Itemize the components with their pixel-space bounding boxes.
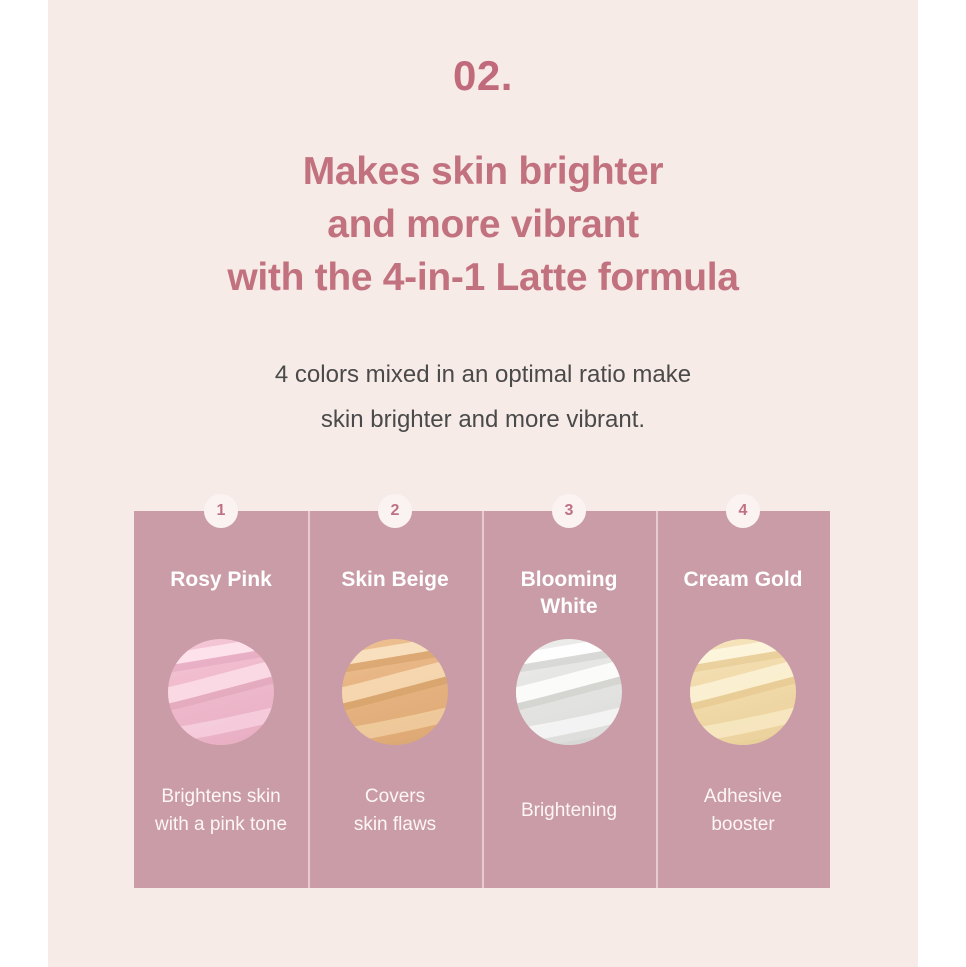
shade-badge-3: 3 bbox=[552, 494, 586, 528]
shade-name-rosy-pink: Rosy Pink bbox=[134, 566, 308, 593]
step-number: 02. bbox=[48, 52, 918, 100]
shade-name-line: Blooming bbox=[521, 568, 618, 591]
shade-name-line: Skin Beige bbox=[341, 568, 448, 591]
shade-badge-4: 4 bbox=[726, 494, 760, 528]
section-headline: Makes skin brighter and more vibrant wit… bbox=[48, 145, 918, 304]
shade-badge-1: 1 bbox=[204, 494, 238, 528]
rosy-pink-texture-icon bbox=[168, 639, 274, 745]
shade-name-line: White bbox=[540, 595, 597, 618]
shade-column-blooming-white: 3 Blooming White bbox=[482, 511, 656, 888]
shade-name-line: Cream Gold bbox=[683, 568, 802, 591]
caption-line: with a pink tone bbox=[134, 811, 308, 839]
shade-column-rosy-pink: 1 Rosy Pink bbox=[134, 511, 308, 888]
column-divider-3 bbox=[656, 511, 658, 888]
skin-beige-texture-icon bbox=[342, 639, 448, 745]
cream-gold-texture-icon bbox=[690, 639, 796, 745]
caption-line: Covers bbox=[308, 783, 482, 811]
caption-line: skin flaws bbox=[308, 811, 482, 839]
caption-line: Brightens skin bbox=[134, 783, 308, 811]
shade-caption-rosy-pink: Brightens skin with a pink tone bbox=[134, 783, 308, 839]
shade-panel: 1 Rosy Pink bbox=[134, 511, 830, 888]
shade-caption-skin-beige: Covers skin flaws bbox=[308, 783, 482, 839]
cream-gold-cream-swatch bbox=[690, 639, 796, 745]
column-divider-1 bbox=[308, 511, 310, 888]
blooming-white-texture-icon bbox=[516, 639, 622, 745]
column-divider-2 bbox=[482, 511, 484, 888]
shade-caption-cream-gold: Adhesive booster bbox=[656, 783, 830, 839]
rosy-pink-cream-swatch bbox=[168, 639, 274, 745]
shade-column-cream-gold: 4 Cream Gold bbox=[656, 511, 830, 888]
shade-caption-blooming-white: Brightening bbox=[482, 797, 656, 825]
shade-name-skin-beige: Skin Beige bbox=[308, 566, 482, 593]
subcopy-line-2: skin brighter and more vibrant. bbox=[48, 397, 918, 442]
shade-column-skin-beige: 2 Skin Beige bbox=[308, 511, 482, 888]
shade-name-line: Rosy Pink bbox=[170, 568, 272, 591]
headline-line-1: Makes skin brighter bbox=[48, 145, 918, 198]
shade-badge-2: 2 bbox=[378, 494, 412, 528]
shade-name-blooming-white: Blooming White bbox=[482, 566, 656, 620]
section-subcopy: 4 colors mixed in an optimal ratio make … bbox=[48, 352, 918, 442]
caption-line: booster bbox=[656, 811, 830, 839]
skin-beige-cream-swatch bbox=[342, 639, 448, 745]
headline-line-2: and more vibrant bbox=[48, 198, 918, 251]
subcopy-line-1: 4 colors mixed in an optimal ratio make bbox=[48, 352, 918, 397]
infographic-canvas: 02. Makes skin brighter and more vibrant… bbox=[48, 0, 918, 967]
caption-line: Adhesive bbox=[656, 783, 830, 811]
caption-line: Brightening bbox=[482, 797, 656, 825]
shade-name-cream-gold: Cream Gold bbox=[656, 566, 830, 593]
blooming-white-cream-swatch bbox=[516, 639, 622, 745]
headline-line-3: with the 4-in-1 Latte formula bbox=[48, 251, 918, 304]
